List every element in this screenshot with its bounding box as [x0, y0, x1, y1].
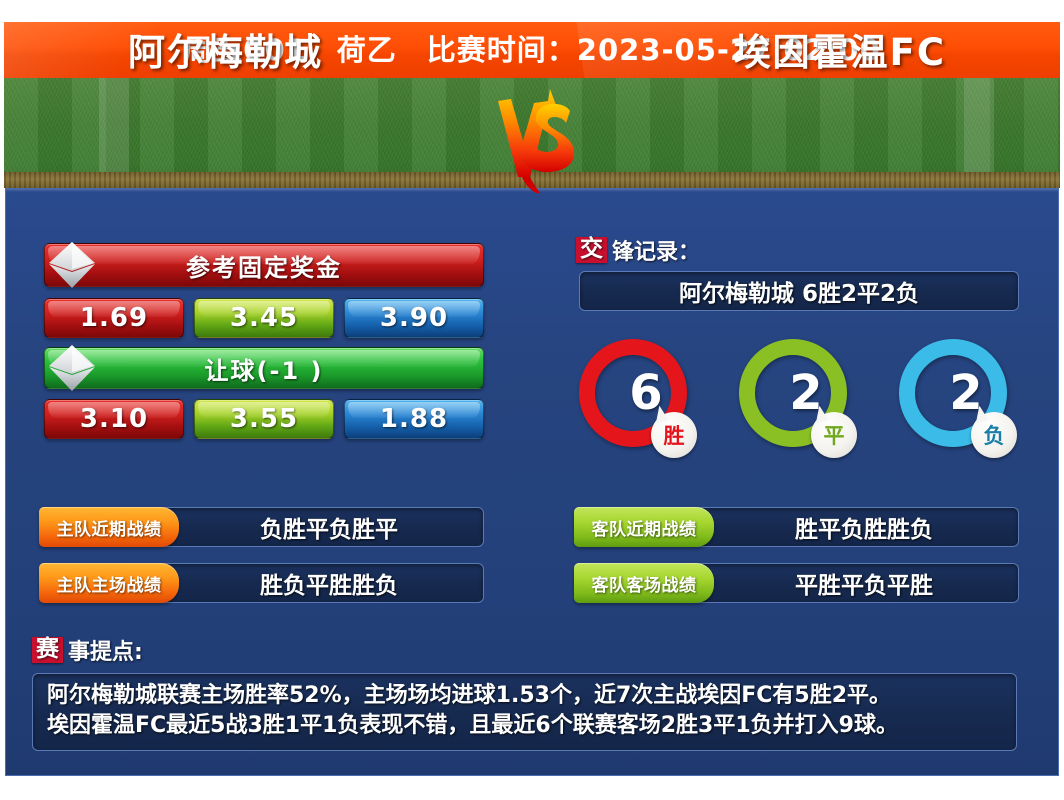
h2h-ring-win: 6 胜	[579, 339, 695, 469]
tips-title-glyph: 赛	[32, 637, 63, 663]
odds-value: 1.88	[380, 404, 448, 434]
odds-value: 3.55	[230, 404, 298, 434]
handicap-label: 让球(-1 )	[205, 351, 324, 386]
home-venue-record-label: 主队主场战绩	[57, 571, 162, 596]
home-team-name: 阿尔梅勒城	[128, 22, 323, 76]
h2h-ring-loss: 2 负	[899, 339, 1015, 469]
handicap-odds-home[interactable]: 3.10	[44, 399, 184, 439]
h2h-section-title: 交 锋记录：	[576, 234, 700, 266]
odds-draw[interactable]: 3.45	[194, 298, 334, 338]
away-venue-record-tab: 客队客场战绩	[574, 563, 714, 603]
handicap-odds-away[interactable]: 1.88	[344, 399, 484, 439]
odds-title-label: 参考固定奖金	[186, 248, 342, 283]
ring-badge-win: 胜	[651, 412, 697, 458]
odds-value: 1.69	[80, 303, 148, 333]
ring-badge-loss: 负	[971, 412, 1017, 458]
odds-value: 3.45	[230, 303, 298, 333]
home-venue-record-tab: 主队主场战绩	[39, 563, 179, 603]
h2h-title-text: 锋记录：	[612, 234, 700, 266]
home-recent-record-label: 主队近期战绩	[57, 515, 162, 540]
home-recent-record-tab: 主队近期战绩	[39, 507, 179, 547]
away-venue-record-label: 客队客场战绩	[592, 571, 697, 596]
odds-value: 3.10	[80, 404, 148, 434]
match-preview-page: 周五001 荷乙 比赛时间：2023-05-27 02:00 阿尔梅勒城 埃因霍…	[0, 0, 1064, 800]
tips-title-text: 事提点:	[68, 634, 143, 666]
tips-line-2: 埃因霍温FC最近5战3胜1平1负表现不错，且最近6个联赛客场2胜3平1负并打入9…	[47, 711, 1002, 741]
handicap-odds-draw[interactable]: 3.55	[194, 399, 334, 439]
handicap-banner: 让球(-1 )	[44, 347, 484, 389]
odds-value: 3.90	[380, 303, 448, 333]
h2h-ring-draw: 2 平	[739, 339, 855, 469]
away-recent-record-label: 客队近期战绩	[592, 515, 697, 540]
h2h-summary-box: 阿尔梅勒城 6胜2平2负	[579, 271, 1019, 311]
odds-away-win[interactable]: 3.90	[344, 298, 484, 338]
away-recent-record-tab: 客队近期战绩	[574, 507, 714, 547]
main-board: 参考固定奖金 1.69 3.45 3.90 让球(-1 )	[5, 188, 1059, 776]
odds-home-win[interactable]: 1.69	[44, 298, 184, 338]
ring-badge-draw: 平	[811, 412, 857, 458]
h2h-summary-text: 阿尔梅勒城 6胜2平2负	[679, 274, 919, 308]
vs-icon	[478, 85, 588, 195]
tips-content-box: 阿尔梅勒城联赛主场胜率52%，主场场均进球1.53个，近7次主战埃因FC有5胜2…	[32, 673, 1017, 751]
away-team-name: 埃因霍温FC	[734, 22, 946, 76]
tips-section-title: 赛 事提点:	[32, 634, 143, 666]
h2h-title-glyph: 交	[576, 237, 607, 263]
tips-line-1: 阿尔梅勒城联赛主场胜率52%，主场场均进球1.53个，近7次主战埃因FC有5胜2…	[47, 681, 1002, 711]
odds-title-banner: 参考固定奖金	[44, 243, 484, 287]
